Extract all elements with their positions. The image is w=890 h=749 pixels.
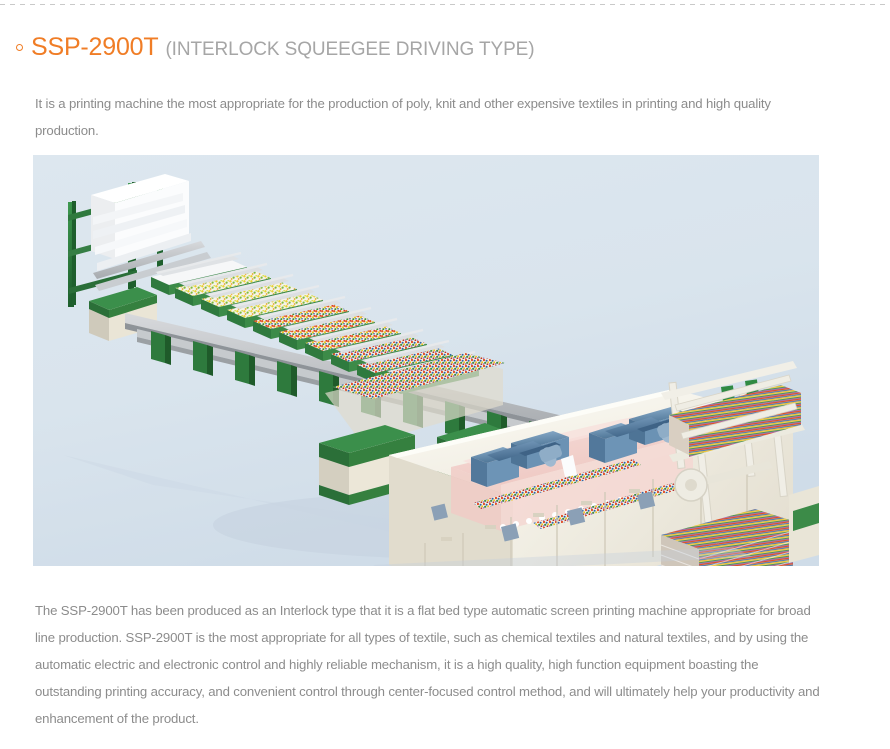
circle-bullet-icon [16, 44, 23, 51]
model-subtitle: (INTERLOCK SQUEEGEE DRIVING TYPE) [165, 39, 534, 61]
machine-illustration [33, 155, 819, 566]
top-divider [0, 4, 890, 5]
detail-paragraph: The SSP-2900T has been produced as an In… [35, 597, 820, 732]
model-name: SSP-2900T [31, 33, 158, 62]
product-image [33, 155, 819, 566]
intro-paragraph: It is a printing machine the most approp… [35, 90, 825, 144]
page-title: SSP-2900T (INTERLOCK SQUEEGEE DRIVING TY… [16, 33, 534, 62]
product-page: SSP-2900T (INTERLOCK SQUEEGEE DRIVING TY… [0, 0, 890, 749]
